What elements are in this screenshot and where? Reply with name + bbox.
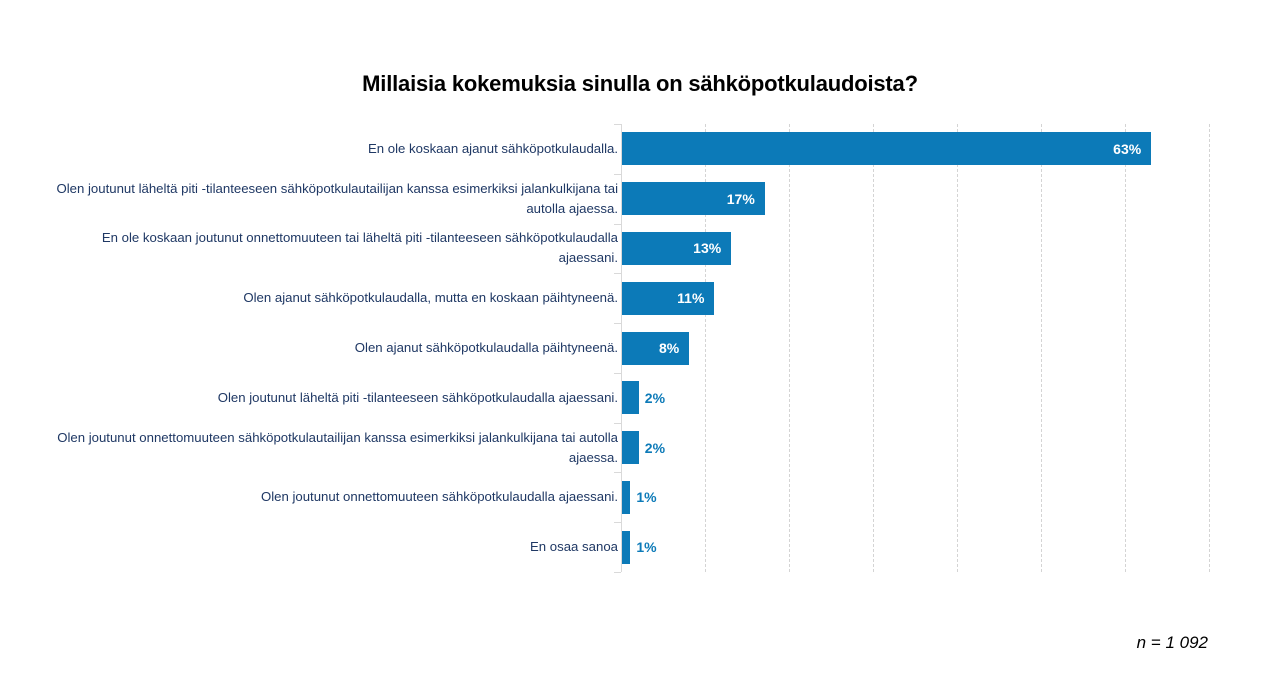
bar[interactable]: 63% xyxy=(622,132,1151,165)
category-label-row: En ole koskaan ajanut sähköpotkulaudalla… xyxy=(40,124,618,174)
bar-value-label: 63% xyxy=(1113,141,1151,157)
bar-row: 1% xyxy=(622,531,657,564)
bar-value-label: 11% xyxy=(677,290,714,306)
chart-title: Millaisia kokemuksia sinulla on sähköpot… xyxy=(0,71,1280,97)
bar[interactable]: 11% xyxy=(622,282,714,315)
bar[interactable] xyxy=(622,381,639,414)
category-label-row: En ole koskaan joutunut onnettomuuteen t… xyxy=(40,224,618,274)
category-label-row: Olen joutunut läheltä piti -tilanteeseen… xyxy=(40,174,618,224)
bar-row: 1% xyxy=(622,481,657,514)
category-label-row: Olen joutunut läheltä piti -tilanteeseen… xyxy=(40,373,618,423)
category-label-row: Olen joutunut onnettomuuteen sähköpotkul… xyxy=(40,423,618,473)
category-label: Olen joutunut onnettomuuteen sähköpotkul… xyxy=(261,487,618,507)
bar-value-label: 17% xyxy=(727,191,765,207)
category-label: Olen joutunut läheltä piti -tilanteeseen… xyxy=(218,388,618,408)
bar-row: 13% xyxy=(622,232,731,265)
bar[interactable] xyxy=(622,481,630,514)
category-label: En osaa sanoa xyxy=(530,537,618,557)
bar[interactable]: 8% xyxy=(622,332,689,365)
bar-row: 8% xyxy=(622,332,689,365)
category-label-column: En ole koskaan ajanut sähköpotkulaudalla… xyxy=(40,124,618,572)
category-label-row: En osaa sanoa xyxy=(40,522,618,572)
bar-row: 2% xyxy=(622,381,665,414)
bar[interactable]: 13% xyxy=(622,232,731,265)
bar-row: 17% xyxy=(622,182,765,215)
bar-chart-figure: Millaisia kokemuksia sinulla on sähköpot… xyxy=(0,0,1280,680)
bar-value-label: 13% xyxy=(693,240,731,256)
sample-size-note: n = 1 092 xyxy=(1137,633,1208,653)
bar-value-label: 2% xyxy=(639,440,665,456)
bars-column: 63%17%13%11%8%2%2%1%1% xyxy=(622,124,1212,572)
bar[interactable] xyxy=(622,431,639,464)
bar-row: 63% xyxy=(622,132,1151,165)
category-label: Olen ajanut sähköpotkulaudalla, mutta en… xyxy=(243,288,618,308)
bar-row: 2% xyxy=(622,431,665,464)
bar-value-label: 1% xyxy=(630,539,656,555)
bar[interactable]: 17% xyxy=(622,182,765,215)
plot-area: En ole koskaan ajanut sähköpotkulaudalla… xyxy=(0,124,1280,572)
category-label: Olen joutunut onnettomuuteen sähköpotkul… xyxy=(40,428,618,468)
bar-row: 11% xyxy=(622,282,714,315)
category-label-row: Olen ajanut sähköpotkulaudalla päihtynee… xyxy=(40,323,618,373)
category-label: Olen joutunut läheltä piti -tilanteeseen… xyxy=(40,179,618,219)
category-label: En ole koskaan ajanut sähköpotkulaudalla… xyxy=(368,139,618,159)
category-label-row: Olen ajanut sähköpotkulaudalla, mutta en… xyxy=(40,273,618,323)
bar-value-label: 8% xyxy=(659,340,689,356)
bar[interactable] xyxy=(622,531,630,564)
axis-tick xyxy=(614,572,621,573)
bar-value-label: 1% xyxy=(630,489,656,505)
category-label-row: Olen joutunut onnettomuuteen sähköpotkul… xyxy=(40,472,618,522)
bar-value-label: 2% xyxy=(639,390,665,406)
category-label: Olen ajanut sähköpotkulaudalla päihtynee… xyxy=(355,338,618,358)
category-label: En ole koskaan joutunut onnettomuuteen t… xyxy=(40,228,618,268)
